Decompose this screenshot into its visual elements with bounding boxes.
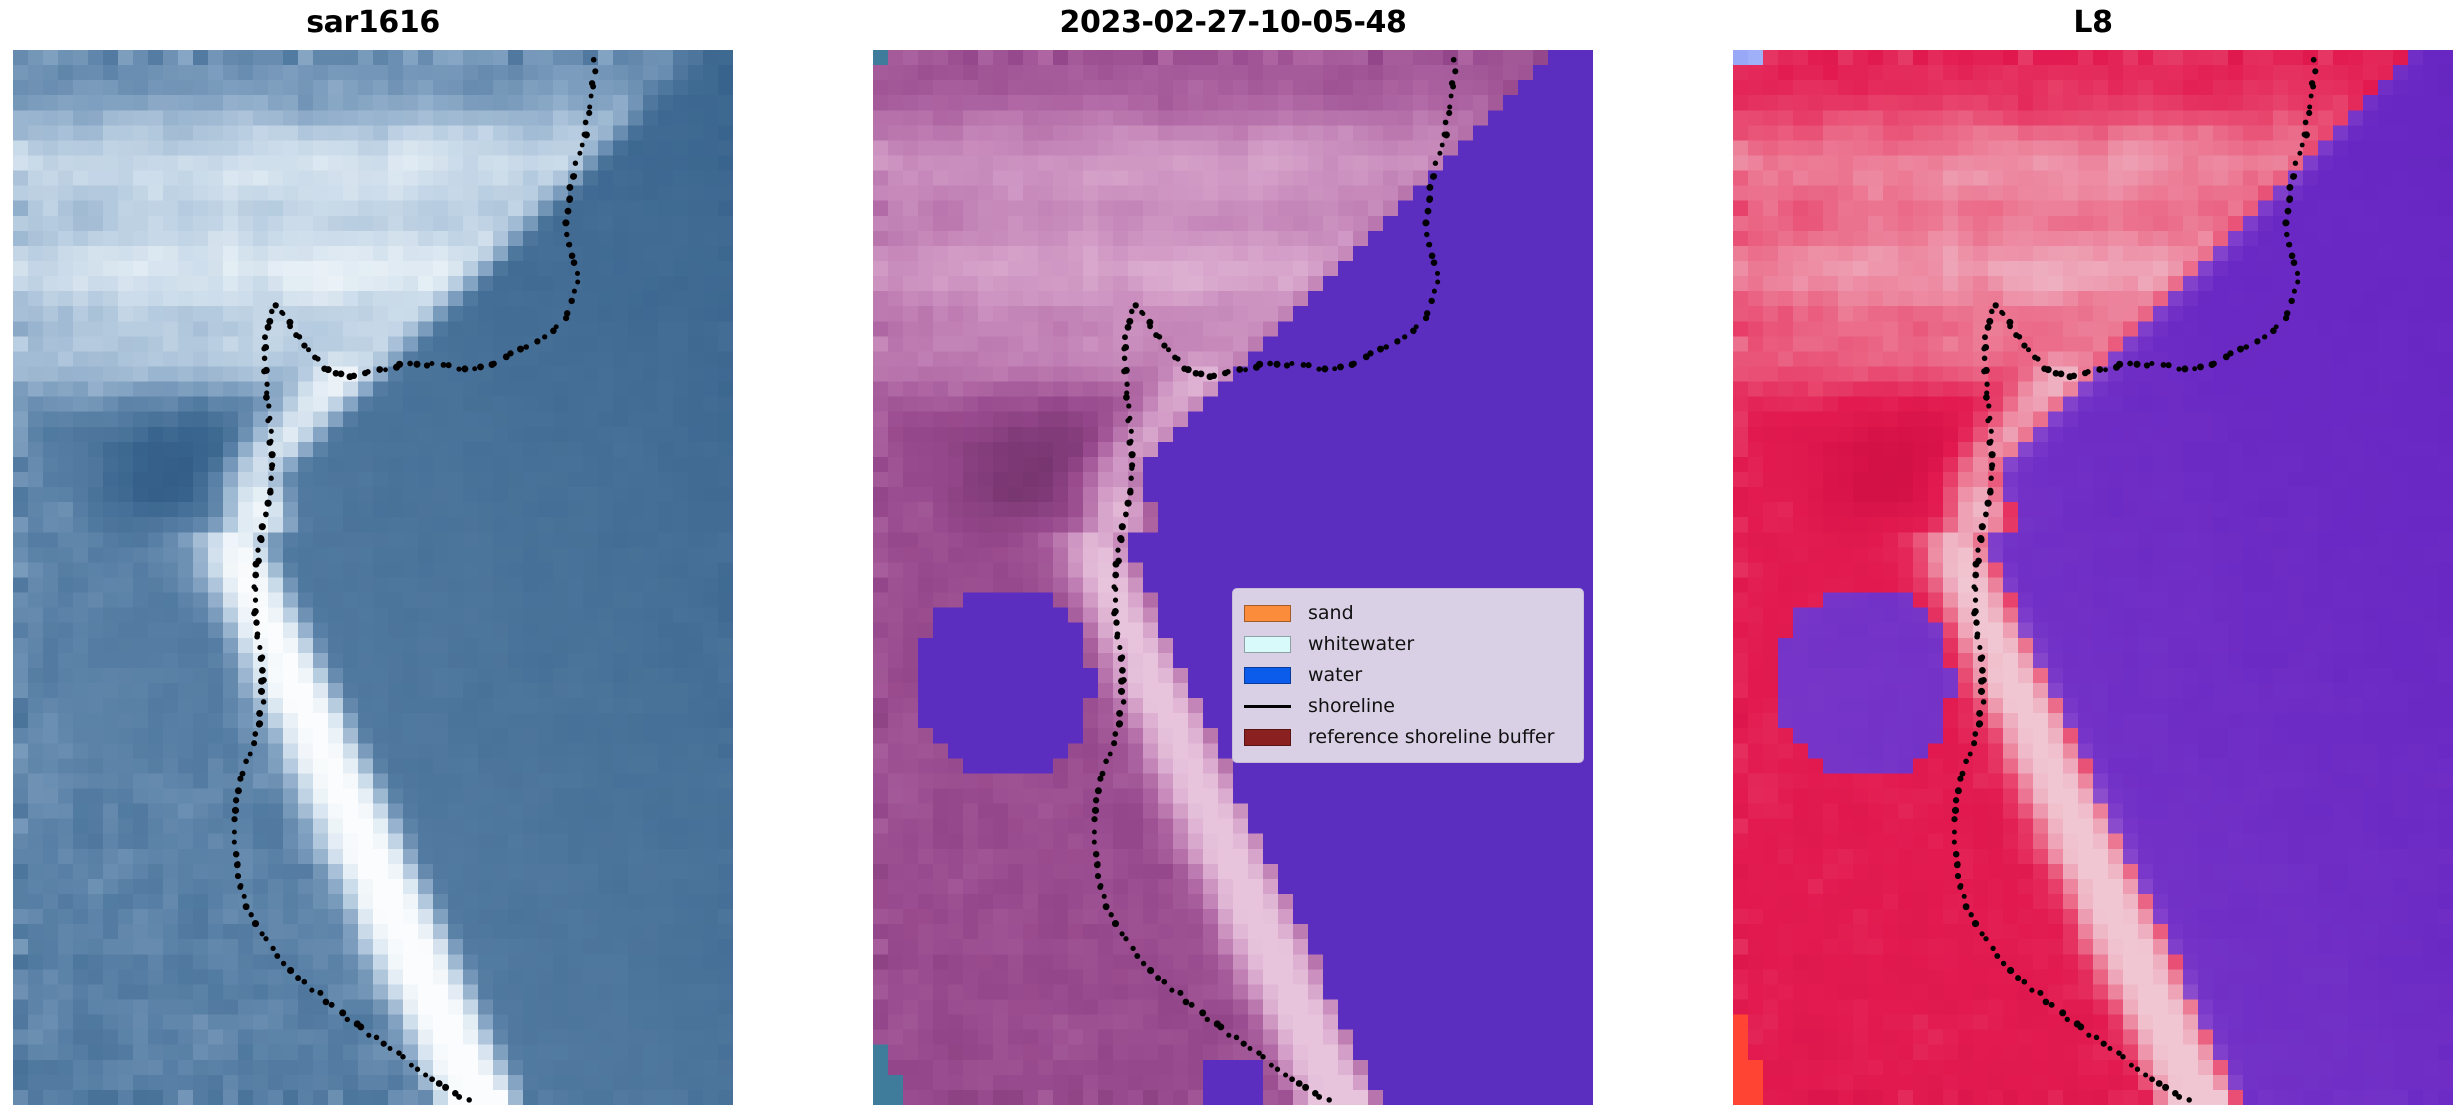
legend-item-shoreline: shoreline	[1244, 691, 1572, 722]
panel-title-2: 2023-02-27-10-05-48	[873, 5, 1593, 40]
legend-item-water: water	[1244, 660, 1572, 691]
panel-title-1: sar1616	[13, 5, 733, 40]
sar-raster	[13, 50, 733, 1105]
panel-title-3: L8	[1733, 5, 2453, 40]
reference-buffer-swatch-icon	[1244, 729, 1291, 746]
classified-raster	[873, 50, 1593, 1105]
image-l8	[1733, 50, 2453, 1105]
whitewater-swatch-icon	[1244, 636, 1291, 653]
panel-sar: sar1616	[13, 0, 733, 1120]
image-classified	[873, 50, 1593, 1105]
sand-swatch-icon	[1244, 605, 1291, 622]
panel-classified: 2023-02-27-10-05-48	[873, 0, 1593, 1120]
legend-item-whitewater: whitewater	[1244, 629, 1572, 660]
legend-label-shoreline: shoreline	[1308, 697, 1395, 716]
legend-item-sand: sand	[1244, 598, 1572, 629]
legend-item-reference-buffer: reference shoreline buffer	[1244, 722, 1572, 753]
image-sar	[13, 50, 733, 1105]
l8-raster	[1733, 50, 2453, 1105]
legend-box: sand whitewater water shoreline referenc…	[1232, 588, 1584, 763]
figure-canvas: sar1616 2023-02-27-10-05-48 L8 sand whit…	[0, 0, 2460, 1120]
panel-l8: L8	[1733, 0, 2453, 1120]
legend-label-sand: sand	[1308, 604, 1354, 623]
water-swatch-icon	[1244, 667, 1291, 684]
legend-label-reference-buffer: reference shoreline buffer	[1308, 728, 1554, 747]
shoreline-line-icon	[1244, 698, 1291, 715]
legend-label-water: water	[1308, 666, 1362, 685]
legend-label-whitewater: whitewater	[1308, 635, 1414, 654]
